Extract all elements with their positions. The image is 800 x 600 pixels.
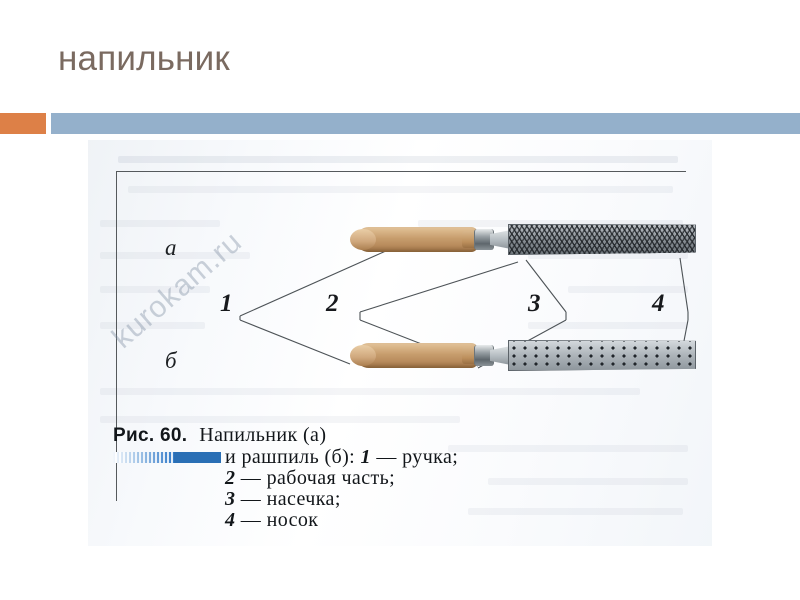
- file-handle: [356, 227, 478, 252]
- callout-number-1: 1: [220, 290, 233, 318]
- caption-line-4: 3 — насечка;: [225, 489, 693, 510]
- caption-head-row: Рис. 60. Напильник (а): [113, 425, 693, 447]
- ghost-text-line: [100, 388, 640, 395]
- caption-line-2-text: и рашпиль (б):: [225, 446, 361, 468]
- divider-accent-bar: [0, 113, 46, 134]
- rasp-blade-teeth: [508, 340, 696, 371]
- caption-line-3-index: 2: [225, 467, 235, 489]
- caption-body: и рашпиль (б): 1 — ручка; 2 — рабочая ча…: [225, 447, 693, 531]
- caption-figure-label: Рис. 60.: [113, 425, 187, 447]
- divider-main-bar: [51, 113, 800, 134]
- caption-line-3-desc: — рабочая часть;: [235, 467, 395, 489]
- ghost-text-line: [100, 416, 460, 423]
- ghost-text-line: [528, 322, 688, 329]
- caption-line-5-desc: — носок: [235, 509, 318, 531]
- callout-number-2: 2: [326, 290, 339, 318]
- ghost-text-line: [118, 156, 678, 163]
- part-letter-a: а: [165, 235, 177, 261]
- rasp-handle: [356, 343, 478, 368]
- ghost-text-line: [128, 186, 673, 193]
- caption-line-2: и рашпиль (б): 1 — ручка;: [225, 447, 693, 468]
- tool-file: [356, 222, 696, 260]
- caption-line-4-index: 3: [225, 488, 235, 510]
- figure-frame-top-rule: [116, 171, 686, 172]
- tool-rasp: [356, 338, 696, 376]
- caption-selection-bar-solid: [174, 452, 221, 463]
- caption-line-1: Напильник (а): [199, 425, 326, 446]
- callout-number-3: 3: [528, 290, 541, 318]
- caption-line-4-desc: — насечка;: [235, 488, 340, 510]
- caption-line-2-index: 1: [361, 446, 371, 468]
- callout-number-4: 4: [652, 290, 665, 318]
- page-title: напильник: [58, 40, 230, 79]
- figure-caption: Рис. 60. Напильник (а) и рашпиль (б): 1 …: [113, 425, 693, 531]
- caption-line-5-index: 4: [225, 509, 235, 531]
- part-letter-b: б: [165, 348, 177, 374]
- caption-line-3: 2 — рабочая часть;: [225, 468, 693, 489]
- ghost-text-line: [568, 286, 688, 293]
- caption-line-2-desc: — ручка;: [371, 446, 458, 468]
- ghost-text-line: [100, 220, 220, 227]
- file-blade-cross-cut: [508, 224, 696, 255]
- caption-line-5: 4 — носок: [225, 510, 693, 531]
- figure-image: kurokam.ru а б 1 2 3 4: [88, 140, 712, 546]
